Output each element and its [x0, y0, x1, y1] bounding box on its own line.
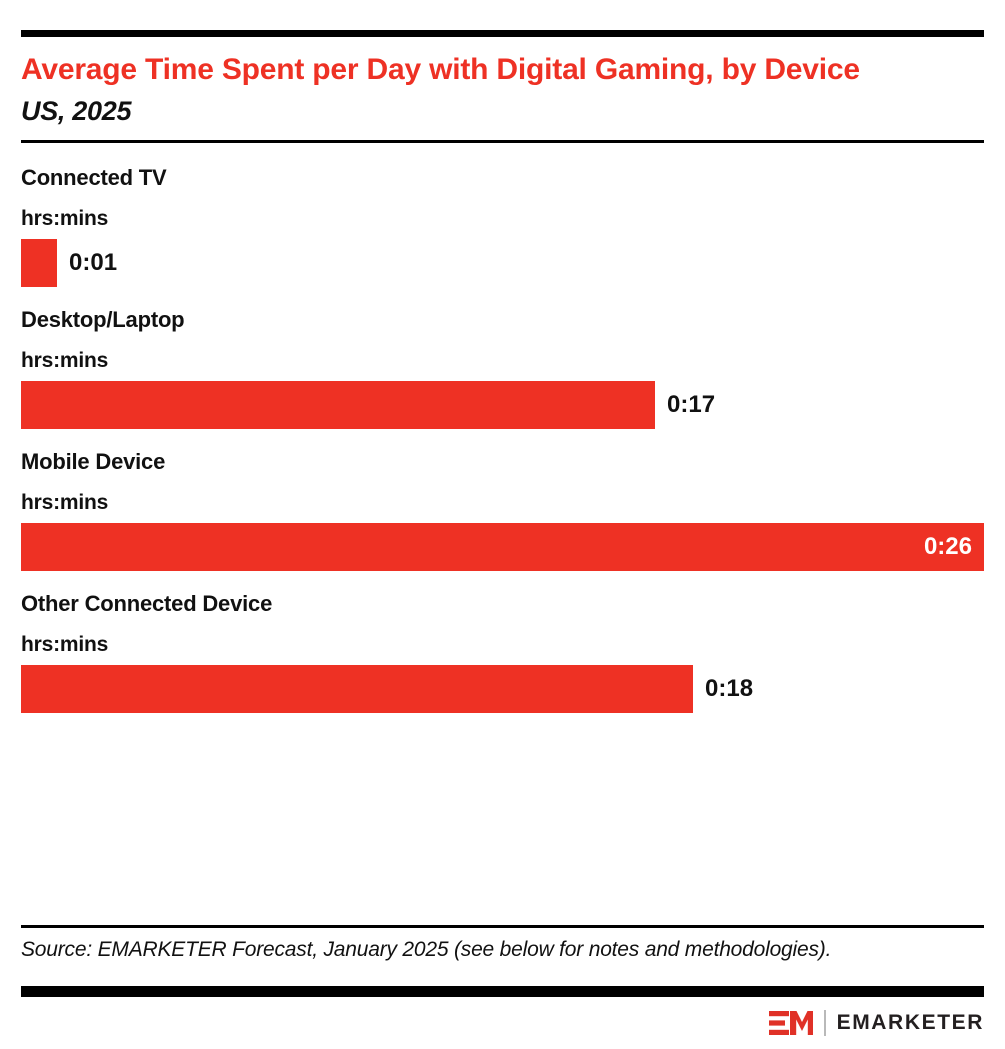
bar[interactable]: [21, 239, 57, 287]
page-title: Average Time Spent per Day with Digital …: [21, 49, 921, 90]
bar-group: Connected TV hrs:mins 0:01: [21, 165, 984, 287]
em-logo-icon: [769, 1010, 813, 1036]
bar-group: Desktop/Laptop hrs:mins 0:17: [21, 307, 984, 429]
bar-group: Other Connected Device hrs:mins 0:18: [21, 591, 984, 713]
bar-unit-label: hrs:mins: [21, 207, 984, 231]
source-note: Source: EMARKETER Forecast, January 2025…: [21, 928, 984, 974]
bar-row: 0:18: [21, 665, 984, 713]
bar-row: 0:26: [21, 523, 984, 571]
top-rule: [21, 30, 984, 37]
bar-group-label: Other Connected Device: [21, 591, 984, 617]
chart-card: Average Time Spent per Day with Digital …: [0, 30, 1005, 1049]
brand-logo: EMARKETER: [21, 997, 984, 1049]
logo-wordmark: EMARKETER: [837, 1011, 984, 1035]
bar-unit-label: hrs:mins: [21, 491, 984, 515]
bar-group-label: Desktop/Laptop: [21, 307, 984, 333]
bar-group-label: Mobile Device: [21, 449, 984, 475]
bar-unit-label: hrs:mins: [21, 633, 984, 657]
page-subtitle: US, 2025: [21, 96, 984, 127]
chart-footer: Source: EMARKETER Forecast, January 2025…: [21, 925, 984, 1049]
header-divider: [21, 140, 984, 143]
bar[interactable]: [21, 665, 693, 713]
bar-value-label: 0:17: [667, 391, 715, 419]
bar-chart: Connected TV hrs:mins 0:01 Desktop/Lapto…: [21, 165, 984, 713]
bar-row: 0:17: [21, 381, 984, 429]
bar-group: Mobile Device hrs:mins 0:26: [21, 449, 984, 571]
bar[interactable]: 0:26: [21, 523, 984, 571]
bar-unit-label: hrs:mins: [21, 349, 984, 373]
bar[interactable]: [21, 381, 655, 429]
logo-divider: [824, 1010, 826, 1036]
bar-group-label: Connected TV: [21, 165, 984, 191]
bar-value-label: 0:26: [924, 533, 984, 561]
bar-value-label: 0:01: [69, 249, 117, 277]
bar-value-label: 0:18: [705, 675, 753, 703]
bottom-rule: [21, 986, 984, 997]
bar-row: 0:01: [21, 239, 984, 287]
